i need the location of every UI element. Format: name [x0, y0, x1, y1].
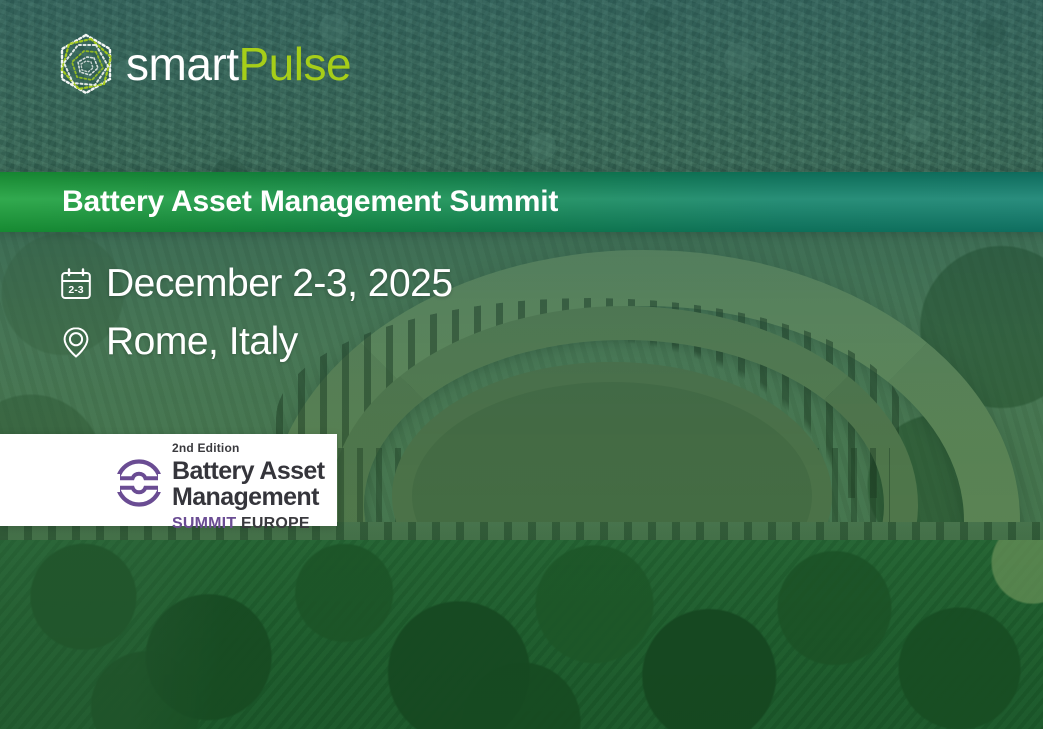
event-date-text: December 2-3, 2025 — [106, 262, 453, 306]
brand-word-pulse: Pulse — [239, 38, 352, 90]
brand-lockup[interactable]: smartPulse — [58, 33, 351, 95]
event-logo-line2: Management — [172, 484, 324, 510]
event-logo-text: 2nd Edition Battery Asset Management SUM… — [172, 442, 324, 532]
page-title: Battery Asset Management Summit — [62, 185, 558, 219]
brand-wordmark: smartPulse — [126, 41, 351, 87]
battery-circle-logo-icon — [114, 458, 164, 508]
event-logo-card[interactable]: 2nd Edition Battery Asset Management SUM… — [0, 434, 337, 526]
event-logo-europe: EUROPE — [241, 515, 310, 532]
event-logo-line1: Battery Asset — [172, 458, 324, 484]
event-banner: smartPulse Battery Asset Management Summ… — [0, 0, 1043, 729]
location-pin-icon — [60, 325, 92, 359]
event-logo-summit: SUMMIT — [172, 515, 236, 532]
event-location-row: Rome, Italy — [60, 320, 453, 364]
event-location-text: Rome, Italy — [106, 320, 298, 364]
event-date-row: 2-3 December 2-3, 2025 — [60, 262, 453, 306]
calendar-icon: 2-3 — [60, 267, 92, 301]
title-band: Battery Asset Management Summit — [0, 172, 1043, 232]
event-logo-subtitle: SUMMIT EUROPE — [172, 516, 324, 532]
brand-word-smart: smart — [126, 38, 239, 90]
calendar-icon-days: 2-3 — [68, 284, 83, 296]
event-edition-label: 2nd Edition — [172, 442, 324, 454]
event-details: 2-3 December 2-3, 2025 Rome, Italy — [60, 262, 453, 378]
hexagon-spiral-logo-icon — [58, 33, 114, 95]
